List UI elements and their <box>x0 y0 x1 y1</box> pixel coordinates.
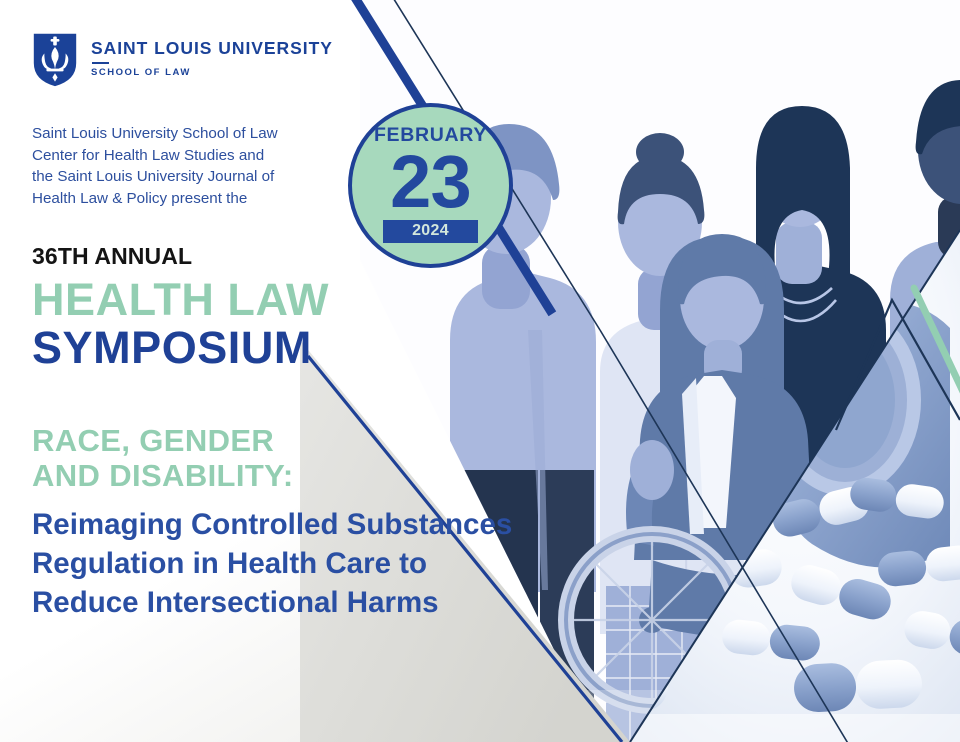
event-title-health-law: HEALTH LAW <box>32 277 592 323</box>
badge-day: 23 <box>390 148 471 216</box>
slu-logo: SAINT LOUIS UNIVERSITY SCHOOL OF LAW <box>32 28 592 90</box>
theme-line-1: RACE, GENDER <box>32 423 592 458</box>
subtitle-line-1: Reimaging Controlled Substances <box>32 506 592 545</box>
theme-line-2: AND DISABILITY: <box>32 458 592 493</box>
date-badge: FEBRUARY 23 2024 <box>348 103 513 268</box>
presenter-line-1: Saint Louis University School of Law <box>32 123 362 145</box>
event-edition: 36TH ANNUAL <box>32 245 592 268</box>
badge-year: 2024 <box>383 220 478 243</box>
event-title-symposium: SYMPOSIUM <box>32 325 592 371</box>
symposium-poster: FEBRUARY 23 2024 SAINT LOUIS UNIVE <box>0 0 960 742</box>
presenter-line-4: Health Law & Policy present the <box>32 188 362 210</box>
logo-divider <box>92 62 109 64</box>
subtitle-line-3: Reduce Intersectional Harms <box>32 584 592 623</box>
presenter-paragraph: Saint Louis University School of Law Cen… <box>32 123 362 209</box>
logo-subtitle: SCHOOL OF LAW <box>91 68 333 78</box>
presenter-line-3: the Saint Louis University Journal of <box>32 166 362 188</box>
logo-title: SAINT LOUIS UNIVERSITY <box>91 39 333 58</box>
event-subtitle: Reimaging Controlled Substances Regulati… <box>32 506 592 623</box>
event-theme: RACE, GENDER AND DISABILITY: <box>32 423 592 494</box>
slu-shield-fleur-de-lis-icon <box>32 30 78 88</box>
poster-text-column: SAINT LOUIS UNIVERSITY SCHOOL OF LAW Sai… <box>32 28 592 622</box>
presenter-line-2: Center for Health Law Studies and <box>32 145 362 167</box>
subtitle-line-2: Regulation in Health Care to <box>32 545 592 584</box>
